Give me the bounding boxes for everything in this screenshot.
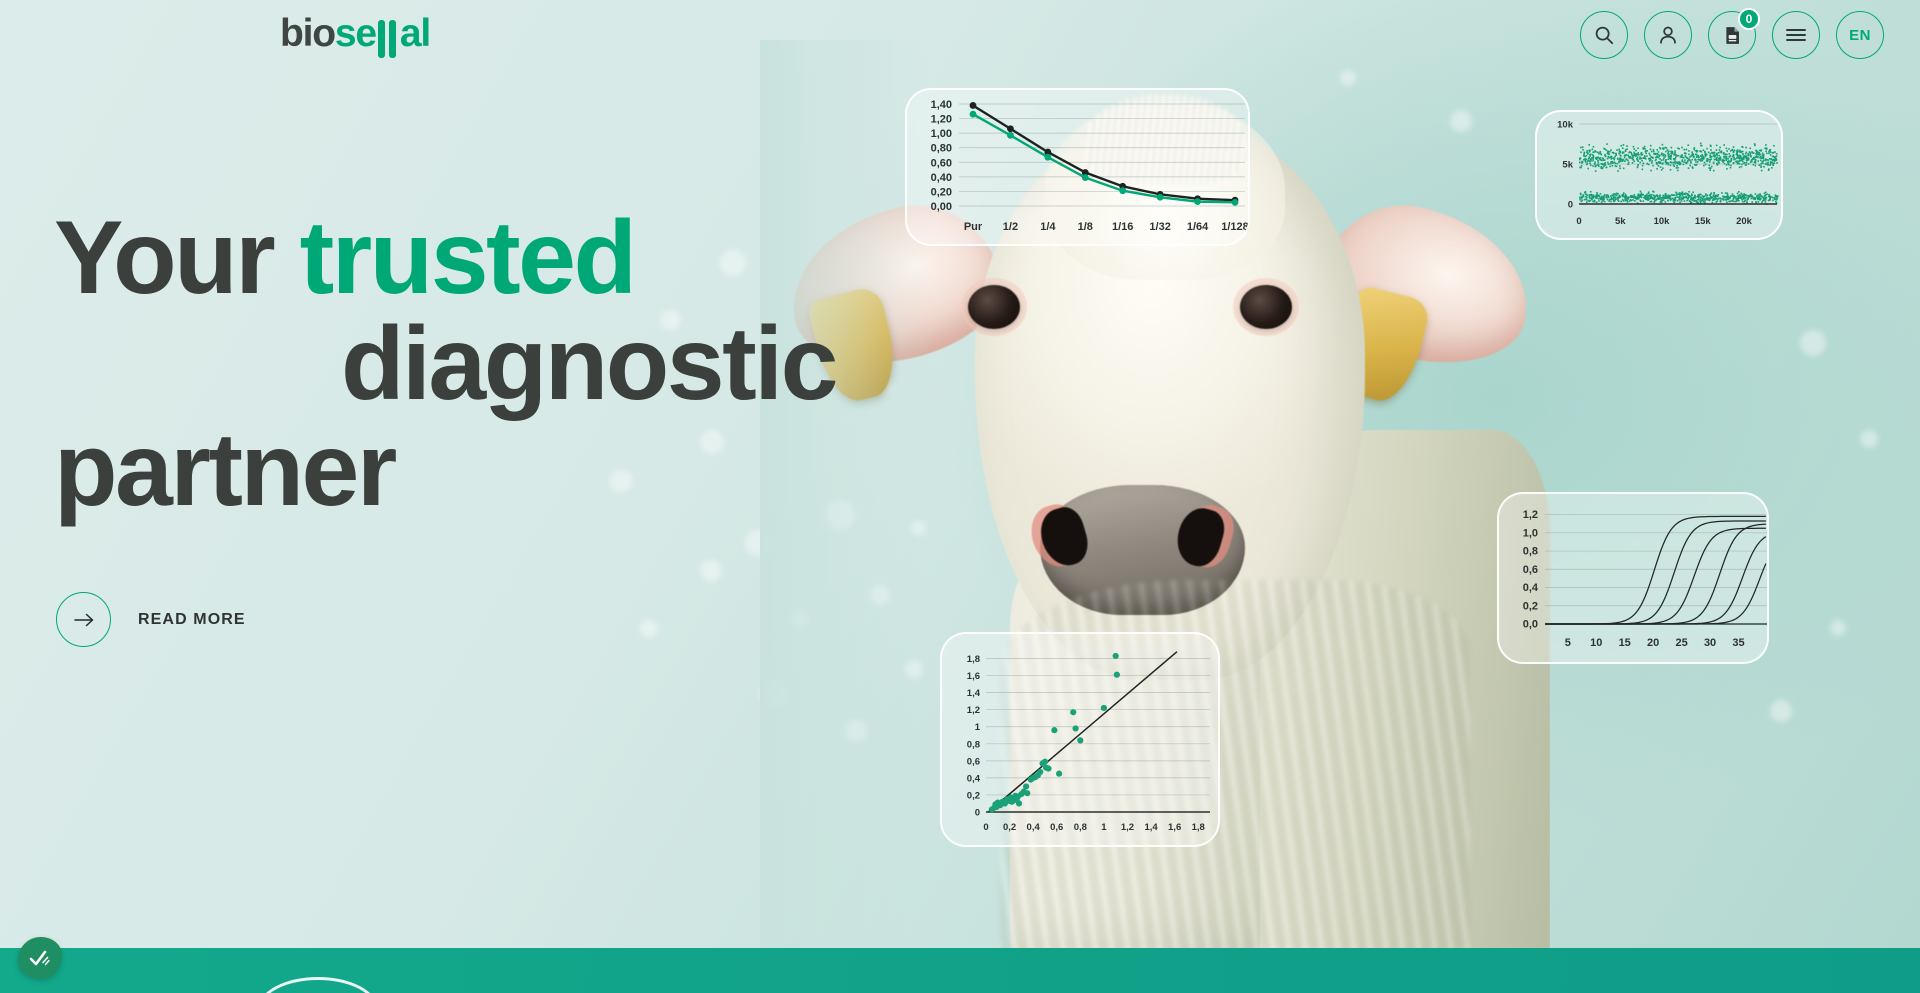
checkmark-icon xyxy=(28,948,52,968)
svg-text:0,6: 0,6 xyxy=(967,756,980,767)
svg-text:5k: 5k xyxy=(1562,160,1573,171)
consent-preferences-widget[interactable] xyxy=(18,937,62,979)
svg-text:1/16: 1/16 xyxy=(1112,221,1133,233)
language-label: EN xyxy=(1849,27,1871,44)
svg-text:35: 35 xyxy=(1732,637,1744,649)
quote-count-badge: 0 xyxy=(1738,8,1760,30)
svg-text:1,20: 1,20 xyxy=(931,114,952,126)
svg-text:1,0: 1,0 xyxy=(1523,527,1538,539)
page-title: Your trusted diagnostic partner xyxy=(54,205,844,523)
svg-text:1,6: 1,6 xyxy=(967,671,980,682)
svg-text:0,4: 0,4 xyxy=(1523,582,1539,594)
svg-text:0,4: 0,4 xyxy=(967,773,981,784)
headline-accent: trusted xyxy=(300,200,635,316)
svg-text:1,2: 1,2 xyxy=(967,705,980,716)
logo-text-al: al xyxy=(400,12,430,55)
svg-text:0: 0 xyxy=(983,822,988,833)
svg-text:0,6: 0,6 xyxy=(1523,564,1538,576)
svg-text:0,00: 0,00 xyxy=(931,201,952,213)
svg-text:1/64: 1/64 xyxy=(1187,221,1209,233)
chart-card-qpcr: 1,21,00,80,60,40,20,05101520253035 xyxy=(1497,492,1769,664)
svg-text:Pur: Pur xyxy=(964,221,983,233)
svg-text:0,8: 0,8 xyxy=(1523,546,1538,558)
svg-text:5k: 5k xyxy=(1615,216,1626,227)
svg-text:15k: 15k xyxy=(1695,216,1712,227)
svg-text:0: 0 xyxy=(975,808,980,819)
arrow-right-icon xyxy=(56,592,111,647)
quote-button[interactable]: 0 xyxy=(1708,11,1756,59)
svg-text:0: 0 xyxy=(1568,200,1573,211)
menu-button[interactable] xyxy=(1772,11,1820,59)
search-button[interactable] xyxy=(1580,11,1628,59)
svg-text:30: 30 xyxy=(1704,637,1716,649)
header-actions: 0 EN xyxy=(1580,11,1884,59)
read-more-button[interactable]: READ MORE xyxy=(56,592,246,647)
language-switcher[interactable]: EN xyxy=(1836,11,1884,59)
svg-text:0,2: 0,2 xyxy=(1523,600,1538,612)
svg-text:0,8: 0,8 xyxy=(1074,822,1087,833)
svg-text:1: 1 xyxy=(975,722,981,733)
svg-text:25: 25 xyxy=(1675,637,1687,649)
svg-text:20k: 20k xyxy=(1736,216,1753,227)
quote-document-icon xyxy=(1722,25,1743,46)
svg-text:1,2: 1,2 xyxy=(1523,509,1538,521)
search-icon xyxy=(1593,24,1615,46)
svg-text:1,4: 1,4 xyxy=(1144,822,1158,833)
svg-text:0,2: 0,2 xyxy=(1003,822,1016,833)
svg-text:0,60: 0,60 xyxy=(931,157,952,169)
svg-text:1,8: 1,8 xyxy=(1192,822,1205,833)
svg-text:1,4: 1,4 xyxy=(967,688,981,699)
svg-text:1,40: 1,40 xyxy=(931,99,952,111)
cow-eye-left xyxy=(968,285,1020,329)
site-header: bioseal xyxy=(0,0,1920,70)
logo-text-bio: bio xyxy=(280,12,335,55)
svg-text:0,20: 0,20 xyxy=(931,186,952,198)
headline-plain-1: Your xyxy=(54,200,300,316)
svg-text:20: 20 xyxy=(1647,637,1659,649)
svg-text:0,80: 0,80 xyxy=(931,143,952,155)
svg-text:1,8: 1,8 xyxy=(967,654,980,665)
chart-card-correlation: 1,81,61,41,210,80,60,40,2000,20,40,60,81… xyxy=(940,632,1220,847)
read-more-label: READ MORE xyxy=(138,611,246,629)
svg-text:1/128: 1/128 xyxy=(1221,221,1249,233)
svg-text:1,00: 1,00 xyxy=(931,128,952,140)
svg-text:0,40: 0,40 xyxy=(931,172,952,184)
hamburger-menu-icon xyxy=(1785,27,1807,43)
svg-text:5: 5 xyxy=(1565,637,1571,649)
brand-logo[interactable]: bioseal xyxy=(280,14,430,53)
section-circle-decoration xyxy=(258,977,378,993)
svg-text:0,2: 0,2 xyxy=(967,790,980,801)
user-icon xyxy=(1657,24,1679,46)
account-button[interactable] xyxy=(1644,11,1692,59)
next-section-band xyxy=(0,948,1920,993)
hero-section: bioseal xyxy=(0,0,1920,993)
headline-line-2: diagnostic xyxy=(54,311,844,417)
chart-card-dot-density: 10k5k005k10k15k20k xyxy=(1535,110,1783,240)
svg-text:1/2: 1/2 xyxy=(1003,221,1018,233)
logo-bars-icon xyxy=(376,20,400,50)
svg-text:10: 10 xyxy=(1590,637,1602,649)
svg-text:1,2: 1,2 xyxy=(1121,822,1134,833)
svg-text:0,6: 0,6 xyxy=(1050,822,1063,833)
svg-text:0,8: 0,8 xyxy=(967,739,980,750)
svg-text:1/4: 1/4 xyxy=(1040,221,1056,233)
svg-text:15: 15 xyxy=(1619,637,1631,649)
svg-text:0,0: 0,0 xyxy=(1523,619,1538,631)
headline-line-3: partner xyxy=(54,417,844,523)
svg-text:1/32: 1/32 xyxy=(1149,221,1170,233)
svg-text:10k: 10k xyxy=(1557,120,1574,131)
logo-text-se: se xyxy=(335,12,376,55)
svg-text:1/8: 1/8 xyxy=(1078,221,1093,233)
svg-text:0: 0 xyxy=(1576,216,1581,227)
svg-text:1,6: 1,6 xyxy=(1168,822,1181,833)
svg-text:0,4: 0,4 xyxy=(1027,822,1041,833)
chart-card-dilution: 1,401,201,000,800,600,400,200,00Pur1/21/… xyxy=(905,88,1250,246)
cow-eye-right xyxy=(1240,285,1292,329)
svg-text:1: 1 xyxy=(1101,822,1107,833)
svg-text:10k: 10k xyxy=(1654,216,1671,227)
